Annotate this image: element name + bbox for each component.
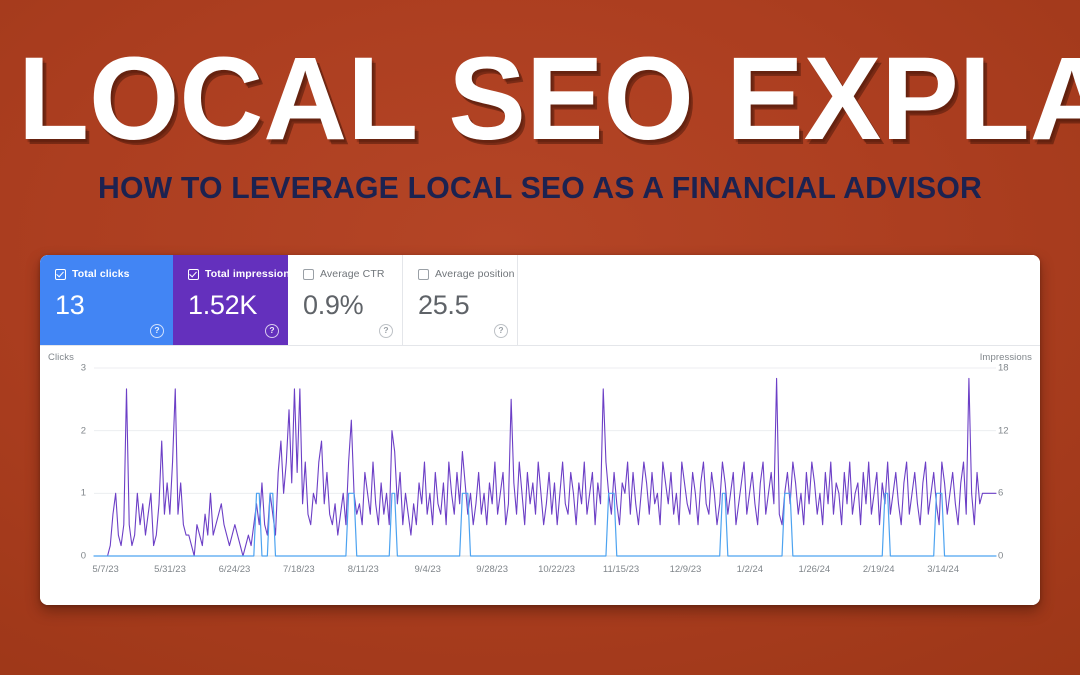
tile-header: Total impressions xyxy=(188,267,275,281)
x-tick-label: 7/18/23 xyxy=(283,564,315,575)
x-axis-labels: 5/7/235/31/236/24/237/18/238/11/239/4/23… xyxy=(94,564,996,580)
y-tick-right: 0 xyxy=(998,551,1032,562)
metric-tile-average-ctr[interactable]: Average CTR 0.9% ? xyxy=(288,255,403,345)
help-icon[interactable]: ? xyxy=(150,324,164,338)
y-tick-left: 2 xyxy=(48,425,86,436)
search-console-card: Total clicks 13 ? Total impressions 1.52… xyxy=(40,255,1040,605)
x-tick-label: 1/2/24 xyxy=(737,564,763,575)
help-icon[interactable]: ? xyxy=(379,324,393,338)
checkbox-checked-icon[interactable] xyxy=(188,269,199,280)
metric-value: 13 xyxy=(55,289,160,321)
metric-value: 0.9% xyxy=(303,289,389,321)
metric-tile-row: Total clicks 13 ? Total impressions 1.52… xyxy=(40,255,1040,346)
x-tick-label: 11/15/23 xyxy=(603,564,639,575)
x-tick-label: 2/19/24 xyxy=(863,564,895,575)
poster-canvas: LOCAL SEO EXPLAINED HOW TO LEVERAGE LOCA… xyxy=(0,0,1080,675)
metric-label: Average position xyxy=(435,268,515,280)
y-tick-right: 6 xyxy=(998,488,1032,499)
metric-value: 25.5 xyxy=(418,289,504,321)
y-tick-left: 0 xyxy=(48,551,86,562)
x-tick-label: 10/22/23 xyxy=(538,564,575,575)
y-axis-left-title: Clicks xyxy=(48,352,74,363)
x-tick-label: 6/24/23 xyxy=(219,564,251,575)
chart-svg xyxy=(94,368,996,556)
metric-label: Total impressions xyxy=(205,268,296,280)
checkbox-checked-icon[interactable] xyxy=(55,269,66,280)
y-tick-left: 3 xyxy=(48,363,86,374)
x-tick-label: 12/9/23 xyxy=(670,564,702,575)
help-icon[interactable]: ? xyxy=(265,324,279,338)
x-tick-label: 9/28/23 xyxy=(476,564,508,575)
x-tick-label: 9/4/23 xyxy=(415,564,441,575)
series-line-impressions xyxy=(94,378,996,556)
performance-chart: Clicks Impressions 0123 061218 5/7/235/3… xyxy=(40,346,1040,605)
metric-label: Total clicks xyxy=(72,268,130,280)
x-tick-label: 5/7/23 xyxy=(92,564,118,575)
metric-label: Average CTR xyxy=(320,268,385,280)
x-tick-label: 1/26/24 xyxy=(798,564,830,575)
y-tick-right: 18 xyxy=(998,363,1032,374)
metric-tile-total-impressions[interactable]: Total impressions 1.52K ? xyxy=(173,255,288,345)
tile-header: Average position xyxy=(418,267,504,281)
x-tick-label: 8/11/23 xyxy=(348,564,379,575)
checkbox-unchecked-icon[interactable] xyxy=(303,269,314,280)
y-axis-right-title: Impressions xyxy=(980,352,1032,363)
chart-gridlines xyxy=(94,368,996,556)
y-tick-right: 12 xyxy=(998,425,1032,436)
x-tick-label: 3/14/24 xyxy=(927,564,959,575)
page-title: LOCAL SEO EXPLAINED xyxy=(8,44,1072,155)
metric-tile-average-position[interactable]: Average position 25.5 ? xyxy=(403,255,518,345)
metric-tile-total-clicks[interactable]: Total clicks 13 ? xyxy=(40,255,173,345)
checkbox-unchecked-icon[interactable] xyxy=(418,269,429,280)
metric-value: 1.52K xyxy=(188,289,275,321)
help-icon[interactable]: ? xyxy=(494,324,508,338)
metric-row-filler xyxy=(518,255,1040,345)
x-tick-label: 5/31/23 xyxy=(154,564,186,575)
chart-plot-area xyxy=(94,368,996,556)
page-subtitle: HOW TO LEVERAGE LOCAL SEO AS A FINANCIAL… xyxy=(5,173,1074,204)
hero-text-block: LOCAL SEO EXPLAINED HOW TO LEVERAGE LOCA… xyxy=(0,44,1080,203)
tile-header: Average CTR xyxy=(303,267,389,281)
tile-header: Total clicks xyxy=(55,267,160,281)
y-tick-left: 1 xyxy=(48,488,86,499)
